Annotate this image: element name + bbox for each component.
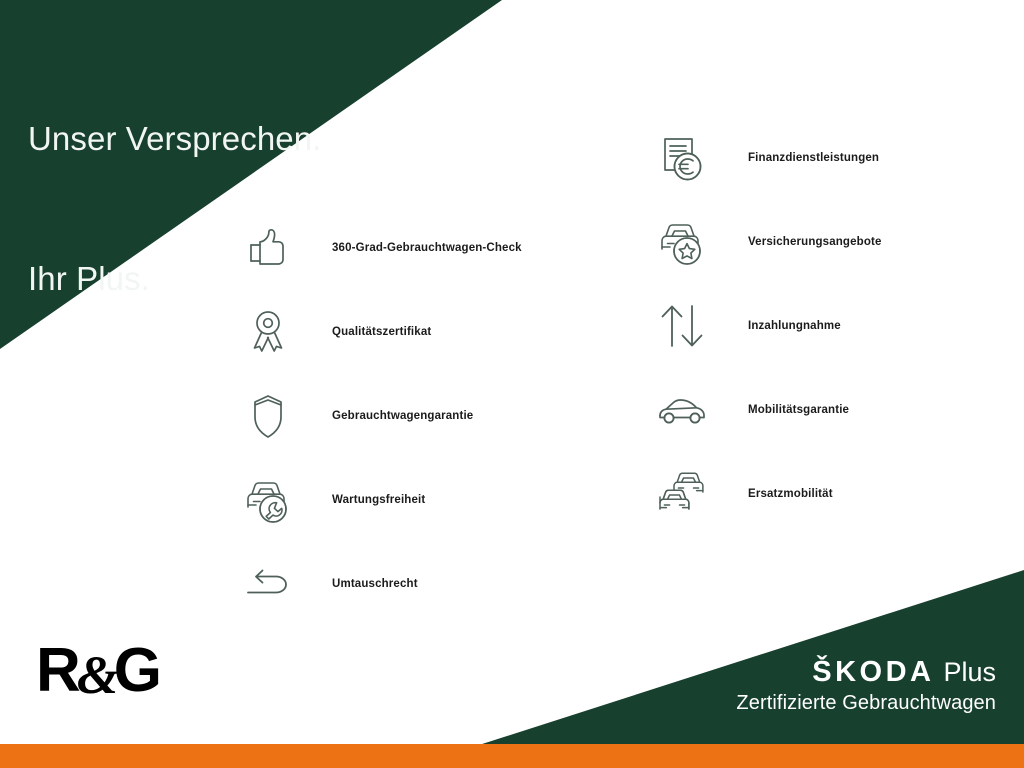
feature-list-left: 360-Grad-Gebrauchtwagen-Check Qualitätsz… [232,206,522,626]
award-ribbon-icon [232,296,304,368]
brand-tagline: Zertifizierte Gebrauchtwagen [736,692,996,714]
feature-label: Mobilitätsgarantie [748,404,849,416]
brand-suffix: Plus [943,659,996,686]
feature-label: Wartungsfreiheit [332,494,425,506]
dealer-logo-right: G [114,640,161,702]
dealer-logo-ampersand: & [77,648,118,702]
thumbs-up-icon [232,212,304,284]
car-wrench-icon [232,464,304,536]
feature-item-return[interactable]: Umtauschrecht [232,542,522,626]
feature-item-warranty[interactable]: Gebrauchtwagengarantie [232,374,522,458]
up-down-arrows-icon [646,290,718,362]
feature-item-maintenance[interactable]: Wartungsfreiheit [232,458,522,542]
feature-label: Inzahlungnahme [748,320,841,332]
feature-item-insurance[interactable]: Versicherungsangebote [646,200,882,284]
feature-label: Qualitätszertifikat [332,326,431,338]
feature-label: Gebrauchtwagengarantie [332,410,473,422]
dealer-logo-left: R [36,640,80,702]
brand-lockup: ŠKODA Plus Zertifizierte Gebrauchtwagen [736,658,996,714]
feature-label: Ersatzmobilität [748,488,833,500]
feature-item-mobility[interactable]: Mobilitätsgarantie [646,368,882,452]
car-side-icon [646,374,718,446]
feature-label: 360-Grad-Gebrauchtwagen-Check [332,242,522,254]
promo-banner: Unser Versprechen. Ihr Plus. 360-Grad-Ge… [0,0,1024,768]
orange-accent-bar [0,744,1024,768]
feature-list-right: Finanzdienstleistungen Versicherungsange… [646,116,882,536]
feature-item-financing[interactable]: Finanzdienstleistungen [646,116,882,200]
feature-label: Versicherungsangebote [748,236,882,248]
feature-item-certificate[interactable]: Qualitätszertifikat [232,290,522,374]
two-cars-icon [646,458,718,530]
brand-name-row: ŠKODA Plus [736,658,996,687]
feature-item-check[interactable]: 360-Grad-Gebrauchtwagen-Check [232,206,522,290]
feature-label: Finanzdienstleistungen [748,152,879,164]
document-euro-icon [646,122,718,194]
dealer-logo[interactable]: R & G [36,640,161,702]
headline-line-1: Unser Versprechen. [28,116,321,163]
return-arrow-icon [232,548,304,620]
feature-label: Umtauschrecht [332,578,418,590]
shield-icon [232,380,304,452]
brand-name: ŠKODA [812,658,934,687]
feature-item-trade-in[interactable]: Inzahlungnahme [646,284,882,368]
feature-item-replacement[interactable]: Ersatzmobilität [646,452,882,536]
car-star-icon [646,206,718,278]
